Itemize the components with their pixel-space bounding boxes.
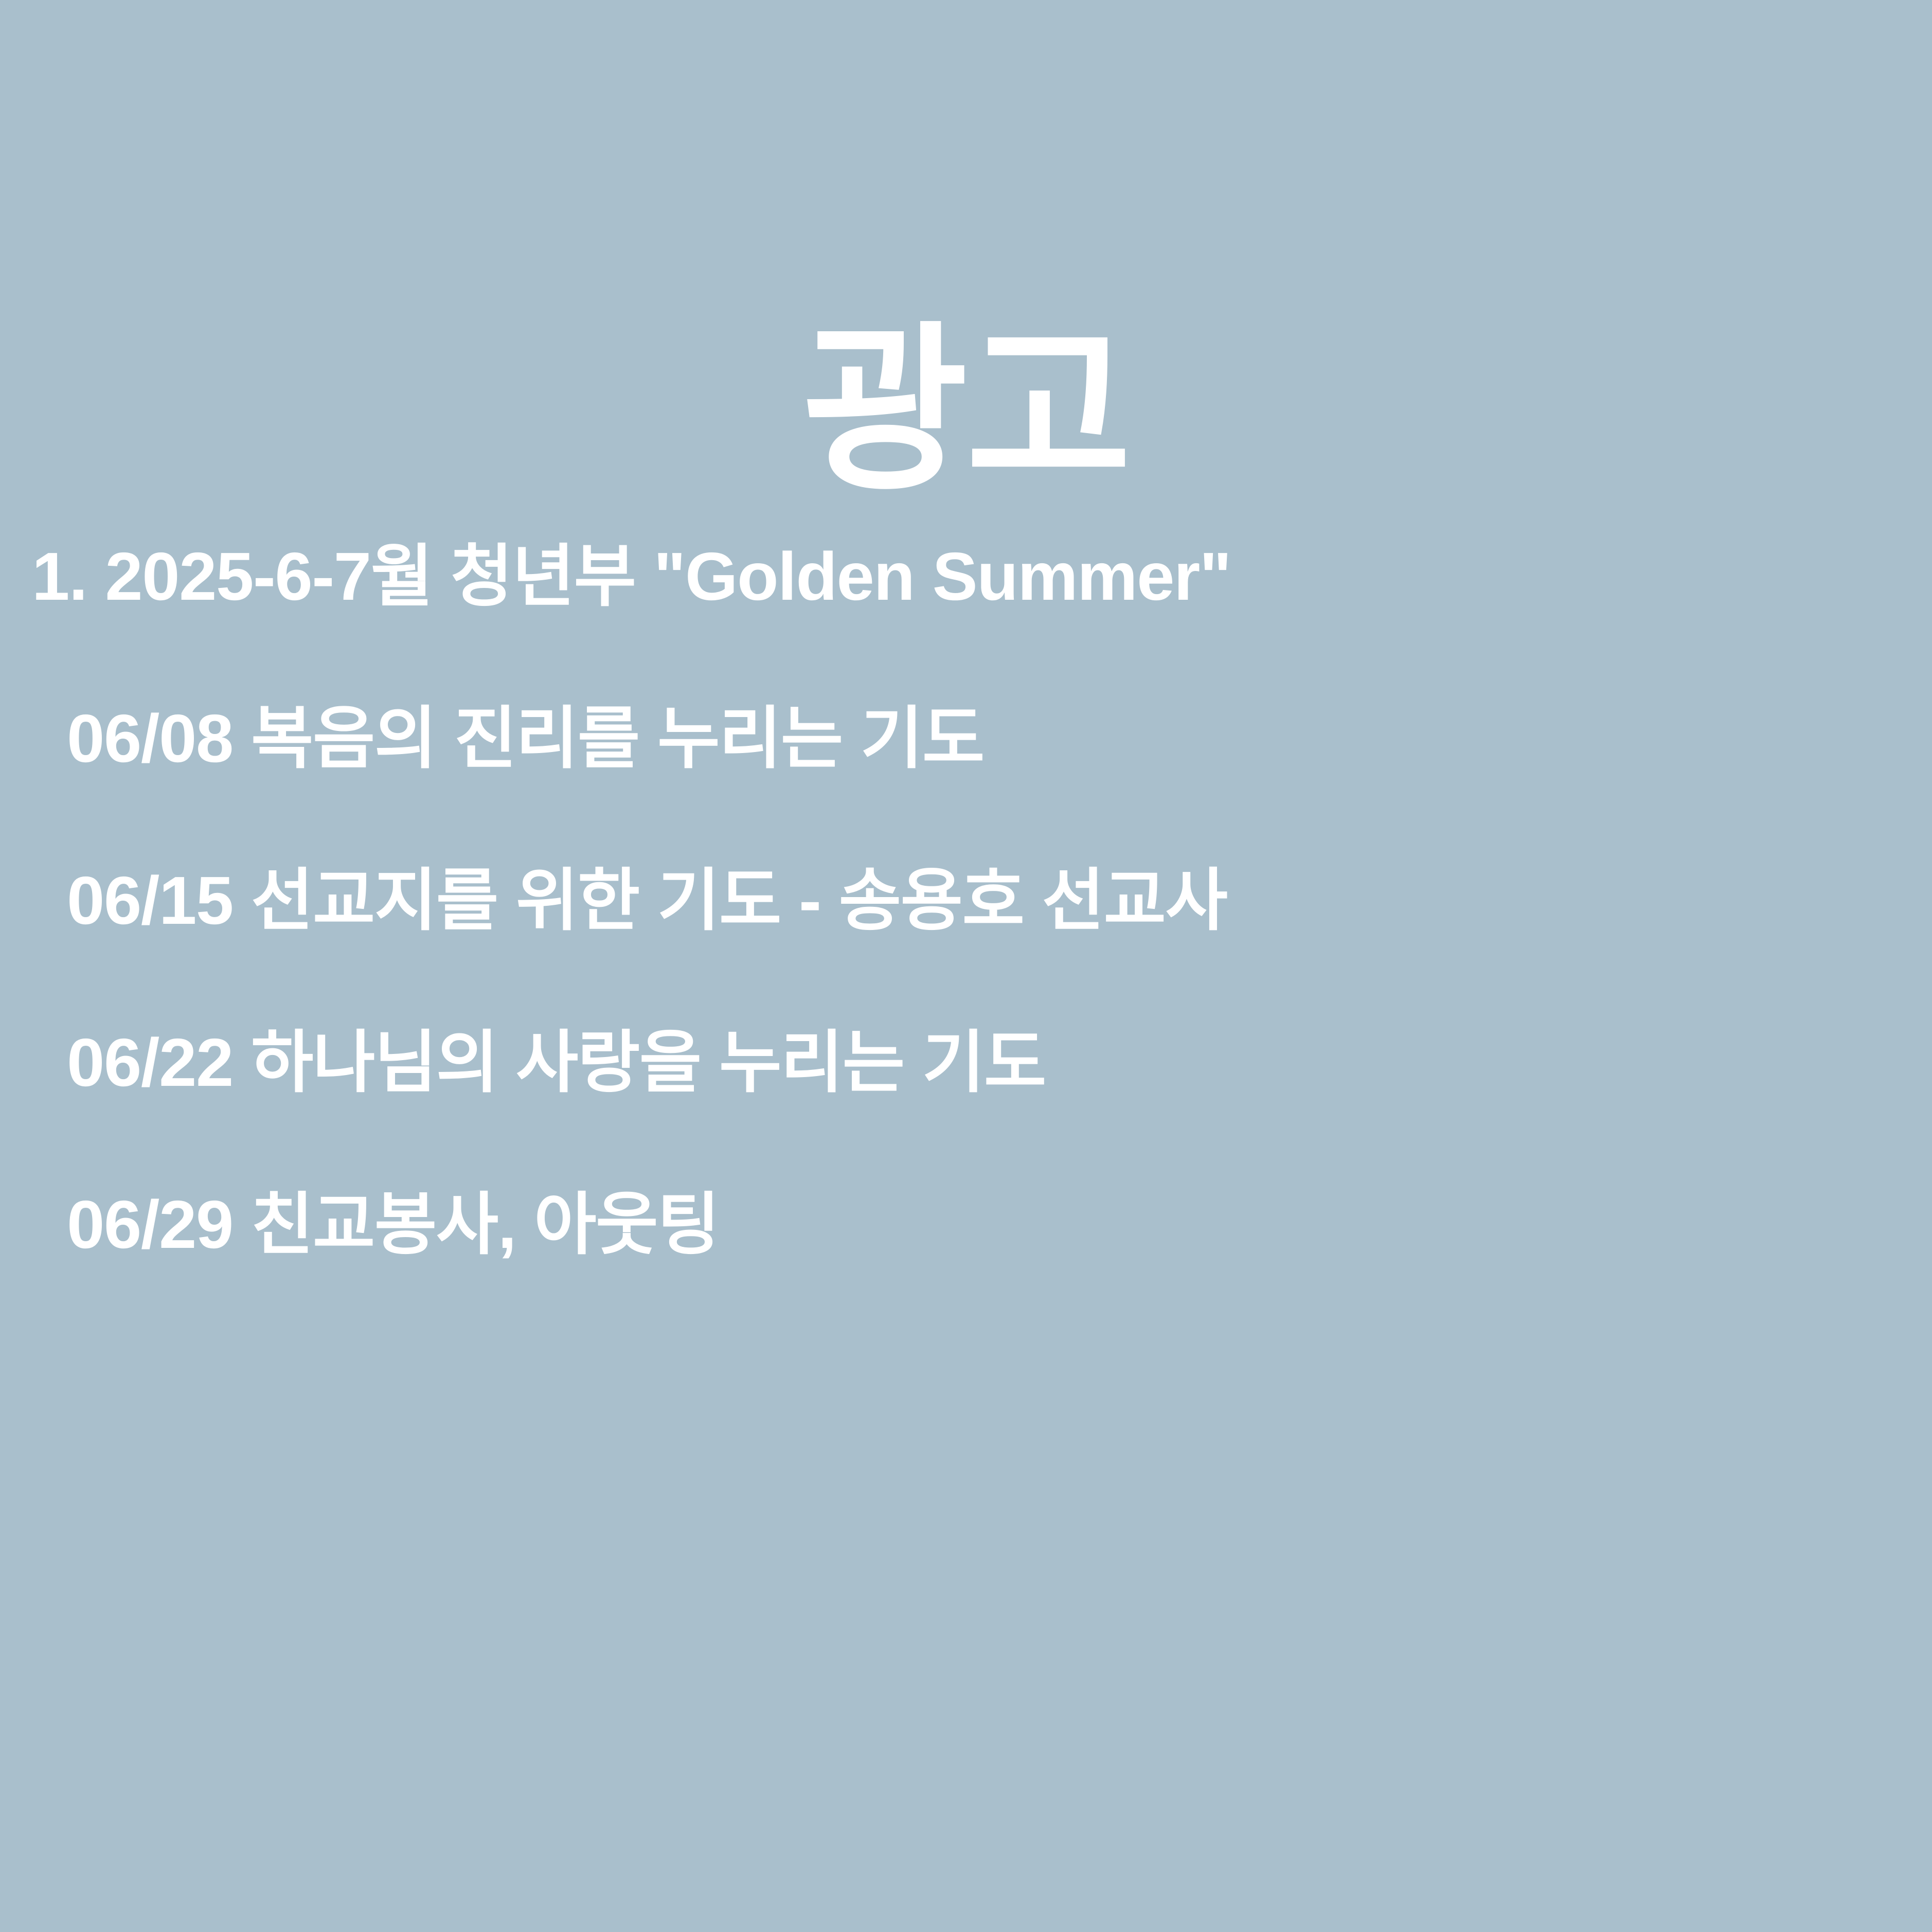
list-item: 06/15 선교지를 위한 기도 - 송용호 선교사 [0,867,1932,1029]
page-title: 광고 [0,316,1932,506]
list-item: 1. 2025-6-7월 청년부 "Golden Summer" [0,543,1932,705]
list-item: 06/22 하나님의 사랑을 누리는 기도 [0,1029,1932,1191]
announcement-slide: 광고 1. 2025-6-7월 청년부 "Golden Summer" 06/0… [0,0,1932,1932]
list-item: 06/08 복음의 진리를 누리는 기도 [0,705,1932,867]
announcement-list: 1. 2025-6-7월 청년부 "Golden Summer" 06/08 복… [0,543,1932,1353]
list-item: 06/29 친교봉사, 아웃팅 [0,1191,1932,1353]
